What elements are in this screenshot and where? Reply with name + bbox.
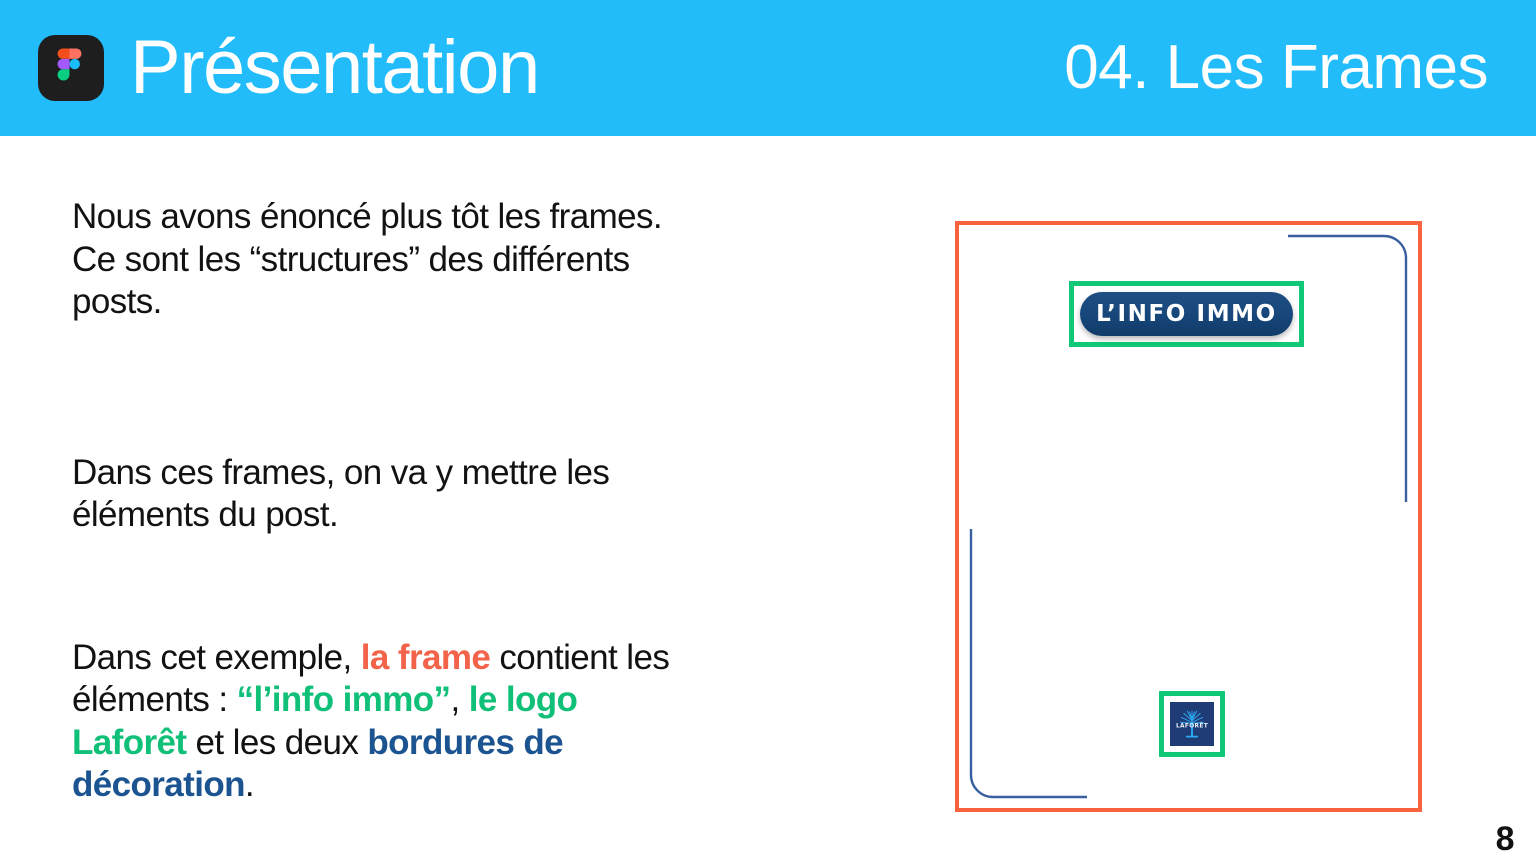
figma-logo-icon bbox=[38, 35, 104, 101]
p3-text-part-5: . bbox=[245, 765, 254, 804]
selection-info-immo[interactable]: L’INFO IMMO bbox=[1069, 281, 1304, 347]
body-text-column: Nous avons énoncé plus tôt les frames. C… bbox=[72, 196, 692, 807]
p3-highlight-frame: la frame bbox=[361, 638, 490, 677]
deco-border-bottom-left-icon bbox=[969, 529, 1089, 799]
page-number: 8 bbox=[1496, 822, 1514, 856]
laforet-logo[interactable]: LAFORÊT bbox=[1170, 702, 1214, 746]
p3-text-part-3: , bbox=[450, 680, 468, 719]
header-bar: Présentation 04. Les Frames bbox=[0, 0, 1536, 136]
post-frame[interactable]: L’INFO IMMO bbox=[955, 221, 1422, 812]
info-immo-label: L’INFO IMMO bbox=[1096, 301, 1277, 327]
deco-border-top-right-icon bbox=[1288, 234, 1408, 504]
slide: Présentation 04. Les Frames Nous avons é… bbox=[0, 0, 1536, 864]
paragraph-1: Nous avons énoncé plus tôt les frames. C… bbox=[72, 196, 692, 324]
page-title: Présentation bbox=[130, 30, 539, 106]
p3-text-part-4: et les deux bbox=[186, 723, 367, 762]
info-immo-badge[interactable]: L’INFO IMMO bbox=[1080, 292, 1293, 336]
section-label: 04. Les Frames bbox=[1064, 0, 1488, 136]
p3-highlight-info-immo: “l’info immo” bbox=[237, 680, 451, 719]
header-branding: Présentation bbox=[38, 0, 539, 136]
laforet-tree-icon: LAFORÊT bbox=[1170, 702, 1214, 746]
paragraph-2: Dans ces frames, on va y mettre les élém… bbox=[72, 452, 692, 537]
selection-laforet-logo[interactable]: LAFORÊT bbox=[1159, 691, 1225, 757]
paragraph-3: Dans cet exemple, la frame contient les … bbox=[72, 637, 692, 807]
svg-text:LAFORÊT: LAFORÊT bbox=[1176, 722, 1208, 730]
p3-text-part-1: Dans cet exemple, bbox=[72, 638, 361, 677]
